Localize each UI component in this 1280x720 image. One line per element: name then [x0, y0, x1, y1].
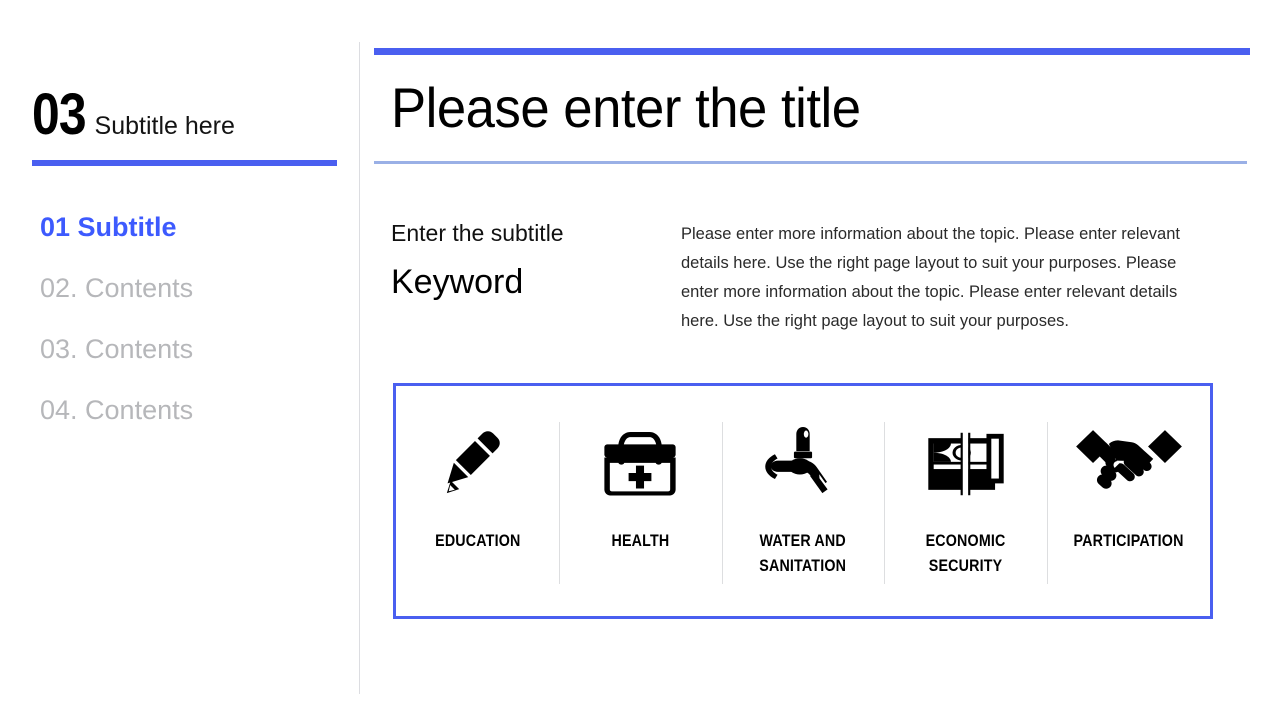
top-accent-rule: [374, 48, 1250, 55]
icon-label-education: EDUCATION: [435, 528, 520, 553]
chapter-underline: [32, 160, 337, 166]
sidebar-item-01[interactable]: 01 Subtitle: [40, 214, 330, 241]
chapter-heading: 03 Subtitle here: [32, 86, 249, 144]
sidebar-vertical-divider: [359, 42, 360, 694]
banknote-icon: [924, 422, 1008, 506]
subtitle-block: Enter the subtitle Keyword: [391, 219, 661, 303]
sidebar-item-02[interactable]: 02. Contents: [40, 275, 330, 302]
icon-cell-water-sanitation[interactable]: WATER AND SANITATION: [722, 386, 885, 616]
icon-label-water-sanitation: WATER AND SANITATION: [760, 528, 847, 578]
body-paragraph: Please enter more information about the …: [681, 220, 1209, 336]
icon-label-economic-security: ECONOMIC SECURITY: [926, 528, 1006, 578]
icon-panel: EDUCATION HEALTH: [393, 383, 1213, 619]
pencil-icon: [439, 422, 515, 506]
sidebar-nav: 01 Subtitle 02. Contents 03. Contents 04…: [40, 214, 330, 458]
faucet-icon: [760, 422, 846, 506]
chapter-number: 03: [32, 86, 86, 144]
section-subtitle: Enter the subtitle: [391, 219, 661, 248]
handshake-icon: [1074, 422, 1184, 506]
section-keyword: Keyword: [391, 262, 661, 303]
slide-canvas: 03 Subtitle here 01 Subtitle 02. Content…: [0, 0, 1280, 720]
icon-cell-education[interactable]: EDUCATION: [396, 386, 559, 616]
icon-label-participation: PARTICIPATION: [1074, 528, 1184, 553]
sidebar-item-04[interactable]: 04. Contents: [40, 397, 330, 424]
icon-label-health: HEALTH: [611, 528, 669, 553]
medical-bag-icon: [597, 422, 683, 506]
title-underline-rule: [374, 161, 1247, 164]
icon-cell-economic-security[interactable]: ECONOMIC SECURITY: [884, 386, 1047, 616]
page-title: Please enter the title: [391, 76, 861, 140]
icon-cell-health[interactable]: HEALTH: [559, 386, 722, 616]
icon-cell-participation[interactable]: PARTICIPATION: [1047, 386, 1210, 616]
sidebar-item-03[interactable]: 03. Contents: [40, 336, 330, 363]
chapter-subtitle: Subtitle here: [95, 114, 235, 139]
sidebar: 03 Subtitle here 01 Subtitle 02. Content…: [0, 0, 359, 720]
